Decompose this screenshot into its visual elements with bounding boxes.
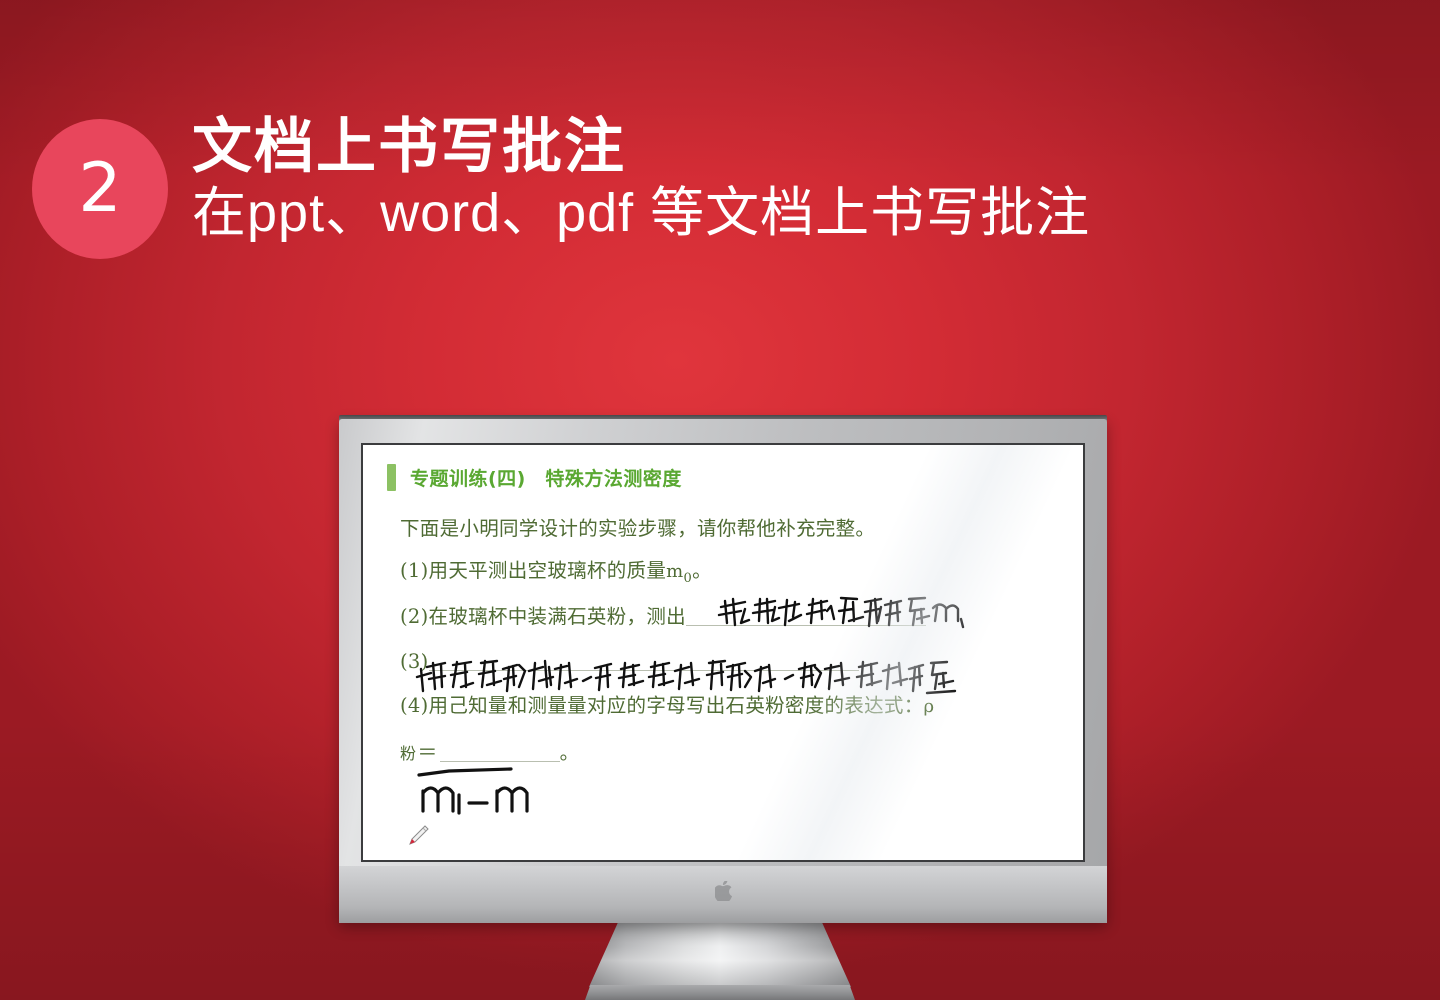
monitor-chin xyxy=(339,866,1107,923)
slide-step-1: (1)用天平测出空玻璃杯的质量m0。 xyxy=(400,561,1063,585)
formula-numerator-blank[interactable] xyxy=(440,744,560,762)
accent-bar-icon xyxy=(387,464,396,491)
monitor-stand xyxy=(589,917,851,1000)
step-3-answer-blank[interactable] xyxy=(429,653,859,671)
step-1-subscript: 0 xyxy=(684,571,693,586)
monitor-stand-base xyxy=(585,985,855,1000)
poster-canvas: 2 文档上书写批注 在ppt、word、pdf 等文档上书写批注 专题训练(四)… xyxy=(0,0,1440,1000)
step-1-number: (1) xyxy=(400,559,429,582)
monitor-bezel: 专题训练(四) 特殊方法测密度 下面是小明同学设计的实验步骤，请你帮他补充完整。… xyxy=(339,419,1107,923)
step-4-number: (4) xyxy=(400,694,429,717)
title-block: 文档上书写批注 在ppt、word、pdf 等文档上书写批注 xyxy=(192,112,1372,247)
slide-header: 专题训练(四) 特殊方法测密度 xyxy=(387,464,682,491)
document-slide[interactable]: 专题训练(四) 特殊方法测密度 下面是小明同学设计的实验步骤，请你帮他补充完整。… xyxy=(363,445,1083,860)
step-1-suffix: 。 xyxy=(692,559,712,582)
header: 2 文档上书写批注 在ppt、word、pdf 等文档上书写批注 xyxy=(0,0,1440,320)
step-4-variable: ρ xyxy=(924,696,935,717)
slide-step-4: (4)用己知量和测量量对应的字母写出石英粉密度的表达式：ρ xyxy=(400,696,1063,716)
monitor-screen[interactable]: 专题训练(四) 特殊方法测密度 下面是小明同学设计的实验步骤，请你帮他补充完整。… xyxy=(363,445,1083,860)
formula-period: 。 xyxy=(560,741,580,764)
computer-monitor: 专题训练(四) 特殊方法测密度 下面是小明同学设计的实验步骤，请你帮他补充完整。… xyxy=(339,415,1107,923)
slide-formula-row: 粉＝。 xyxy=(400,742,1063,763)
slide-step-3: (3) xyxy=(400,652,1063,672)
step-1-variable: m xyxy=(666,561,683,582)
slide-step-2: (2)在玻璃杯中装满石英粉，测出 xyxy=(400,607,1063,627)
pencil-cursor-icon xyxy=(405,823,431,849)
step-number-label: 2 xyxy=(78,155,121,223)
formula-subscript-label: 粉 xyxy=(400,744,416,763)
page-subtitle: 在ppt、word、pdf 等文档上书写批注 xyxy=(192,181,1372,247)
monitor-stand-shading xyxy=(589,917,851,987)
slide-intro-paragraph: 下面是小明同学设计的实验步骤，请你帮他补充完整。 xyxy=(400,519,1063,539)
apple-logo-icon xyxy=(715,881,732,901)
monitor-screen-frame: 专题训练(四) 特殊方法测密度 下面是小明同学设计的实验步骤，请你帮他补充完整。… xyxy=(361,443,1085,862)
step-3-number: (3) xyxy=(400,650,429,673)
slide-title: 专题训练(四) 特殊方法测密度 xyxy=(410,464,682,491)
step-number-badge: 2 xyxy=(32,119,168,259)
handwriting-annotation-formula xyxy=(415,775,545,819)
slide-body: 下面是小明同学设计的实验步骤，请你帮他补充完整。 (1)用天平测出空玻璃杯的质量… xyxy=(400,519,1063,763)
step-2-number: (2) xyxy=(400,605,429,628)
step-2-text: 在玻璃杯中装满石英粉，测出 xyxy=(429,605,686,628)
step-1-text: 用天平测出空玻璃杯的质量 xyxy=(429,559,667,582)
formula-equals-sign: ＝ xyxy=(417,740,437,764)
step-2-answer-blank[interactable] xyxy=(686,608,926,626)
step-4-text: 用己知量和测量量对应的字母写出石英粉密度的表达式： xyxy=(429,694,924,717)
page-title: 文档上书写批注 xyxy=(192,112,1372,183)
